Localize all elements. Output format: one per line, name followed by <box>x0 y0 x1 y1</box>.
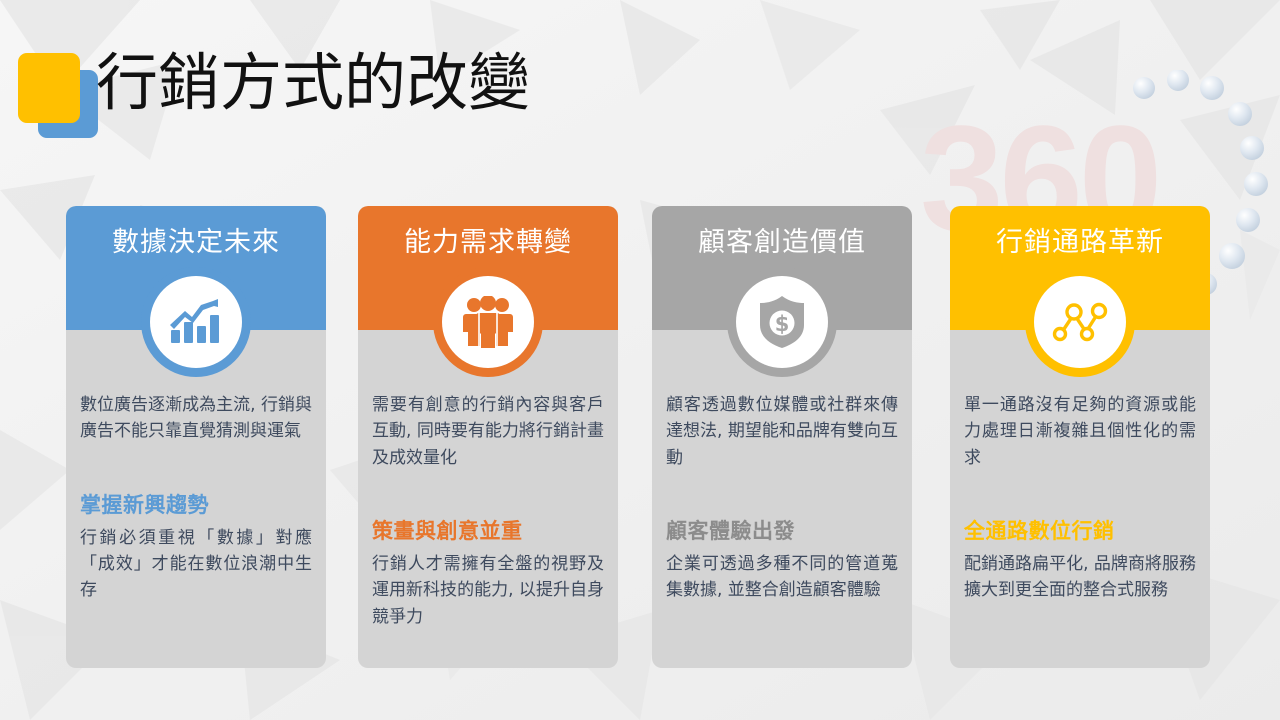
card-header: 行銷通路革新 <box>950 206 1210 330</box>
card-subheading: 掌握新興趨勢 <box>80 489 312 519</box>
card-sub-paragraph: 行銷必須重視「數據」對應「成效」才能在數位浪潮中生存 <box>80 525 312 604</box>
card-header: 顧客創造價值 $ <box>652 206 912 330</box>
card-header-title: 數據決定未來 <box>66 220 326 259</box>
card-body: 需要有創意的行銷內容與客戶互動, 同時要有能力將行銷計畫及成效量化 策畫與創意並… <box>358 392 618 630</box>
card-subheading: 顧客體驗出發 <box>666 515 898 545</box>
page-title: 行銷方式的改變 <box>96 47 530 118</box>
card-body: 單一通路沒有足夠的資源或能力處理日漸複雜且個性化的需求 全通路數位行銷 配銷通路… <box>950 392 1210 604</box>
card-header: 能力需求轉變 <box>358 206 618 330</box>
card-header: 數據決定未來 <box>66 206 326 330</box>
card-header-title: 顧客創造價值 <box>652 220 912 259</box>
card-header-title: 能力需求轉變 <box>358 220 618 259</box>
card-body: 數位廣告逐漸成為主流, 行銷與廣告不能只靠直覺猜測與運氣 掌握新興趨勢 行銷必須… <box>66 392 326 604</box>
card-body: 顧客透過數位媒體或社群來傳達想法, 期望能和品牌有雙向互動 顧客體驗出發 企業可… <box>652 392 912 604</box>
card-subheading: 策畫與創意並重 <box>372 515 604 545</box>
card-paragraph: 顧客透過數位媒體或社群來傳達想法, 期望能和品牌有雙向互動 <box>666 392 898 471</box>
card-paragraph: 需要有創意的行銷內容與客戶互動, 同時要有能力將行銷計畫及成效量化 <box>372 392 604 471</box>
card-data-decides-future[interactable]: 數據決定未來 數位廣告逐漸成為主流, 行銷與廣告不能只靠直覺猜測與運氣 掌握新興… <box>66 206 326 668</box>
card-marketing-channel-innovation[interactable]: 行銷通路革新 單一通路沒有足夠的資 <box>950 206 1210 668</box>
card-capability-demand-shift[interactable]: 能力需求轉變 <box>358 206 618 668</box>
card-paragraph: 數位廣告逐漸成為主流, 行銷與廣告不能只靠直覺猜測與運氣 <box>80 392 312 445</box>
shield-dollar-icon: $ <box>736 276 828 368</box>
bar-chart-growth-icon <box>150 276 242 368</box>
card-sub-paragraph: 配銷通路扁平化, 品牌商將服務擴大到更全面的整合式服務 <box>964 551 1196 604</box>
card-customer-creates-value[interactable]: 顧客創造價值 $ 顧客透過數位媒體或社群來傳達想法, 期望能和品牌有雙向互動 顧… <box>652 206 912 668</box>
svg-text:$: $ <box>775 312 790 336</box>
decor-square-yellow <box>18 53 80 123</box>
card-subheading: 全通路數位行銷 <box>964 515 1196 545</box>
card-header-title: 行銷通路革新 <box>950 220 1210 259</box>
title-block: 行銷方式的改變 <box>0 45 700 155</box>
people-group-icon <box>442 276 534 368</box>
card-sub-paragraph: 行銷人才需擁有全盤的視野及運用新科技的能力, 以提升自身競爭力 <box>372 551 604 630</box>
card-row: 數據決定未來 數位廣告逐漸成為主流, 行銷與廣告不能只靠直覺猜測與運氣 掌握新興… <box>0 206 1280 676</box>
card-paragraph: 單一通路沒有足夠的資源或能力處理日漸複雜且個性化的需求 <box>964 392 1196 471</box>
card-sub-paragraph: 企業可透過多種不同的管道蒐集數據, 並整合創造顧客體驗 <box>666 551 898 604</box>
network-nodes-icon <box>1034 276 1126 368</box>
